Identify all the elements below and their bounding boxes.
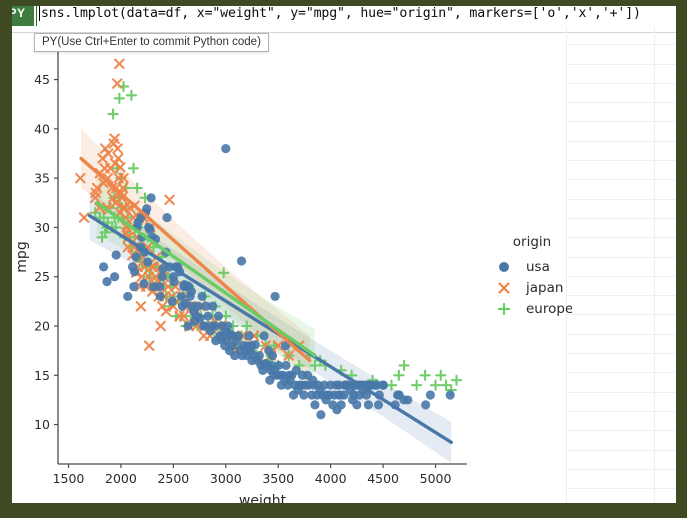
seaborn-lmplot-chart: 1015202530354045150020002500300035004000… (12, 32, 572, 503)
grid-row[interactable] (566, 431, 676, 450)
grid-row[interactable] (566, 142, 676, 161)
data-point (99, 262, 108, 271)
grid-row[interactable] (566, 258, 676, 277)
x-tick-label: 4500 (367, 471, 399, 486)
grid-row[interactable] (566, 373, 676, 392)
grid-row[interactable] (566, 412, 676, 431)
data-point (268, 351, 277, 360)
legend-plus-marker (499, 304, 509, 314)
python-hint-tooltip: PY(Use Ctrl+Enter to commit Python code) (34, 33, 269, 52)
data-point (221, 144, 230, 153)
grid-row[interactable] (566, 315, 676, 334)
legend-label-usa: usa (526, 259, 550, 275)
x-tick-label: 3000 (210, 471, 242, 486)
y-tick-label: 10 (34, 417, 50, 432)
data-point (194, 302, 203, 311)
data-point (244, 331, 253, 340)
data-point (281, 361, 290, 370)
legend-label-europe: europe (526, 301, 572, 317)
data-point (403, 395, 412, 404)
data-point (155, 282, 164, 291)
grid-row[interactable] (566, 219, 676, 238)
grid-row[interactable] (566, 103, 676, 122)
legend-circle-marker (499, 262, 509, 272)
x-axis-label: weight (239, 493, 287, 503)
excel-python-cell-view: 1015202530354045150020002500300035004000… (12, 6, 676, 503)
grid-row[interactable] (566, 161, 676, 180)
y-tick-label: 45 (34, 72, 50, 87)
grid-row[interactable] (566, 393, 676, 412)
grid-row[interactable] (566, 122, 676, 141)
x-tick-label: 3500 (262, 471, 294, 486)
formula-input[interactable]: sns.lmplot(data=df, x="weight", y="mpg",… (36, 6, 674, 26)
grid-row[interactable] (566, 451, 676, 470)
y-tick-label: 35 (34, 171, 50, 186)
data-point (112, 250, 121, 259)
grid-row[interactable] (566, 65, 676, 84)
y-tick-label: 40 (34, 121, 50, 136)
data-point (364, 400, 373, 409)
data-point (426, 390, 435, 399)
data-point (197, 292, 206, 301)
data-point (130, 267, 139, 276)
data-point (147, 193, 156, 202)
data-point (102, 277, 111, 286)
y-tick-label: 15 (34, 368, 50, 383)
x-tick-label: 2500 (157, 471, 189, 486)
data-point (158, 272, 167, 281)
data-point (316, 410, 325, 419)
data-point (379, 381, 388, 390)
data-point (421, 400, 430, 409)
data-point (337, 400, 346, 409)
data-point (131, 252, 140, 261)
data-point (168, 297, 177, 306)
data-point (270, 292, 279, 301)
y-tick-label: 25 (34, 269, 50, 284)
data-point (145, 225, 154, 234)
grid-row[interactable] (566, 470, 676, 489)
grid-row[interactable] (566, 180, 676, 199)
grid-row[interactable] (566, 45, 676, 64)
data-point (129, 282, 138, 291)
grid-row[interactable] (566, 200, 676, 219)
legend-x-marker (500, 284, 509, 293)
python-badge: PY (12, 6, 34, 26)
grid-row[interactable] (566, 277, 676, 296)
x-tick-label: 4000 (315, 471, 347, 486)
data-point (143, 257, 152, 266)
x-tick-label: 1500 (53, 471, 85, 486)
grid-row[interactable] (566, 238, 676, 257)
grid-row[interactable] (566, 84, 676, 103)
data-point (237, 256, 246, 265)
x-tick-label: 5000 (420, 471, 452, 486)
data-point (255, 351, 264, 360)
data-point (310, 400, 319, 409)
data-point (208, 302, 217, 311)
text-cursor (39, 6, 40, 21)
spreadsheet-grid[interactable] (566, 26, 676, 503)
y-axis-label: mpg (14, 241, 30, 272)
legend-label-japan: japan (525, 280, 563, 296)
x-tick-label: 2000 (105, 471, 137, 486)
data-point (139, 279, 148, 288)
data-point (156, 292, 165, 301)
grid-row[interactable] (566, 296, 676, 315)
data-point (162, 213, 171, 222)
data-point (169, 277, 178, 286)
grid-row[interactable] (566, 335, 676, 354)
data-point (110, 272, 119, 281)
data-point (123, 292, 132, 301)
grid-column-divider (654, 26, 655, 503)
y-tick-label: 20 (34, 319, 50, 334)
data-point (234, 331, 243, 340)
legend-title: origin (513, 234, 551, 250)
grid-row[interactable] (566, 354, 676, 373)
data-point (251, 340, 260, 349)
data-point (352, 400, 361, 409)
grid-row[interactable] (566, 26, 676, 45)
y-tick-label: 30 (34, 220, 50, 235)
data-point (223, 321, 232, 330)
data-point (259, 331, 268, 340)
formula-code-text: sns.lmplot(data=df, x="weight", y="mpg",… (41, 6, 641, 21)
data-point (299, 390, 308, 399)
data-point (374, 400, 383, 409)
data-point (196, 314, 205, 323)
data-point (446, 390, 455, 399)
data-point (214, 312, 223, 321)
grid-row[interactable] (566, 489, 676, 503)
data-point (187, 287, 196, 296)
data-point (203, 312, 212, 321)
